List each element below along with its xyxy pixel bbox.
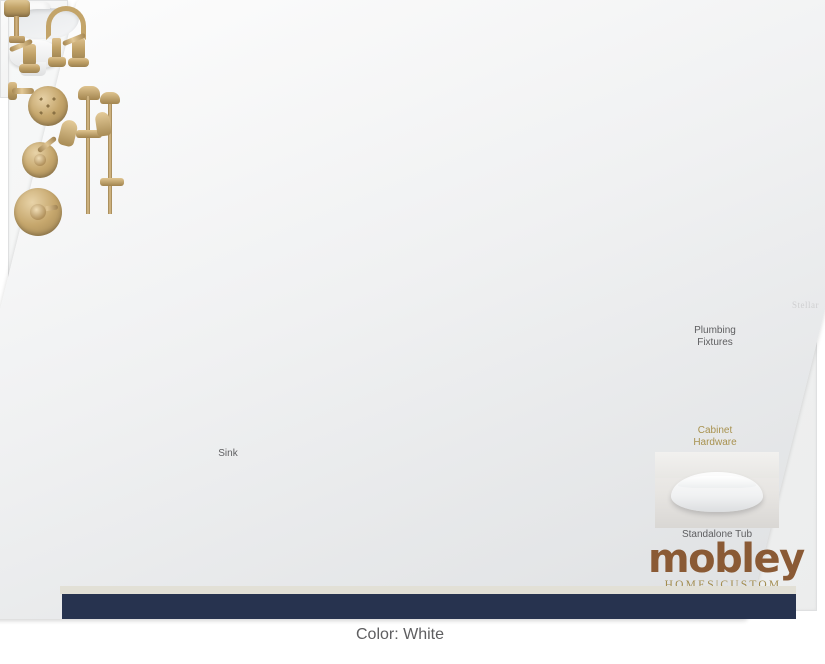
shower-valve-hub [30,204,46,220]
faucet-handle-base [68,58,89,67]
slide-bar-rail [86,96,90,214]
knob-head-shape [4,0,30,17]
volume-control-hub [34,154,46,166]
shower-head-icon [28,86,68,126]
tub-shape [671,472,763,512]
shower-arm-shape [12,88,34,94]
standalone-tub-photo [655,452,779,528]
knob-base-shape [9,36,25,43]
mobley-logo: mobley HOMES|CUSTOM [648,540,798,591]
faucet-handle-base [19,64,40,73]
logo-wordmark: mobley [648,540,798,578]
design-board: MASTER BATH Shower Concept Countertop Qu… [0,0,825,619]
cabinets-detail: Color: White [340,625,460,645]
faucet-base-shape [48,57,66,67]
sink-caption: Sink [186,448,270,460]
cabinet-hardware-caption: Cabinet Hardware [655,425,775,449]
slide-bar-holder [100,178,124,186]
plumbing-fixtures-caption: Plumbing Fixtures [655,325,775,349]
knob-stem-shape [14,16,19,38]
slide-bar-top-bracket [100,92,120,104]
footer-light-strip [60,586,796,594]
watermark: Stellar [792,300,819,310]
footer-navy-bar [62,594,796,619]
